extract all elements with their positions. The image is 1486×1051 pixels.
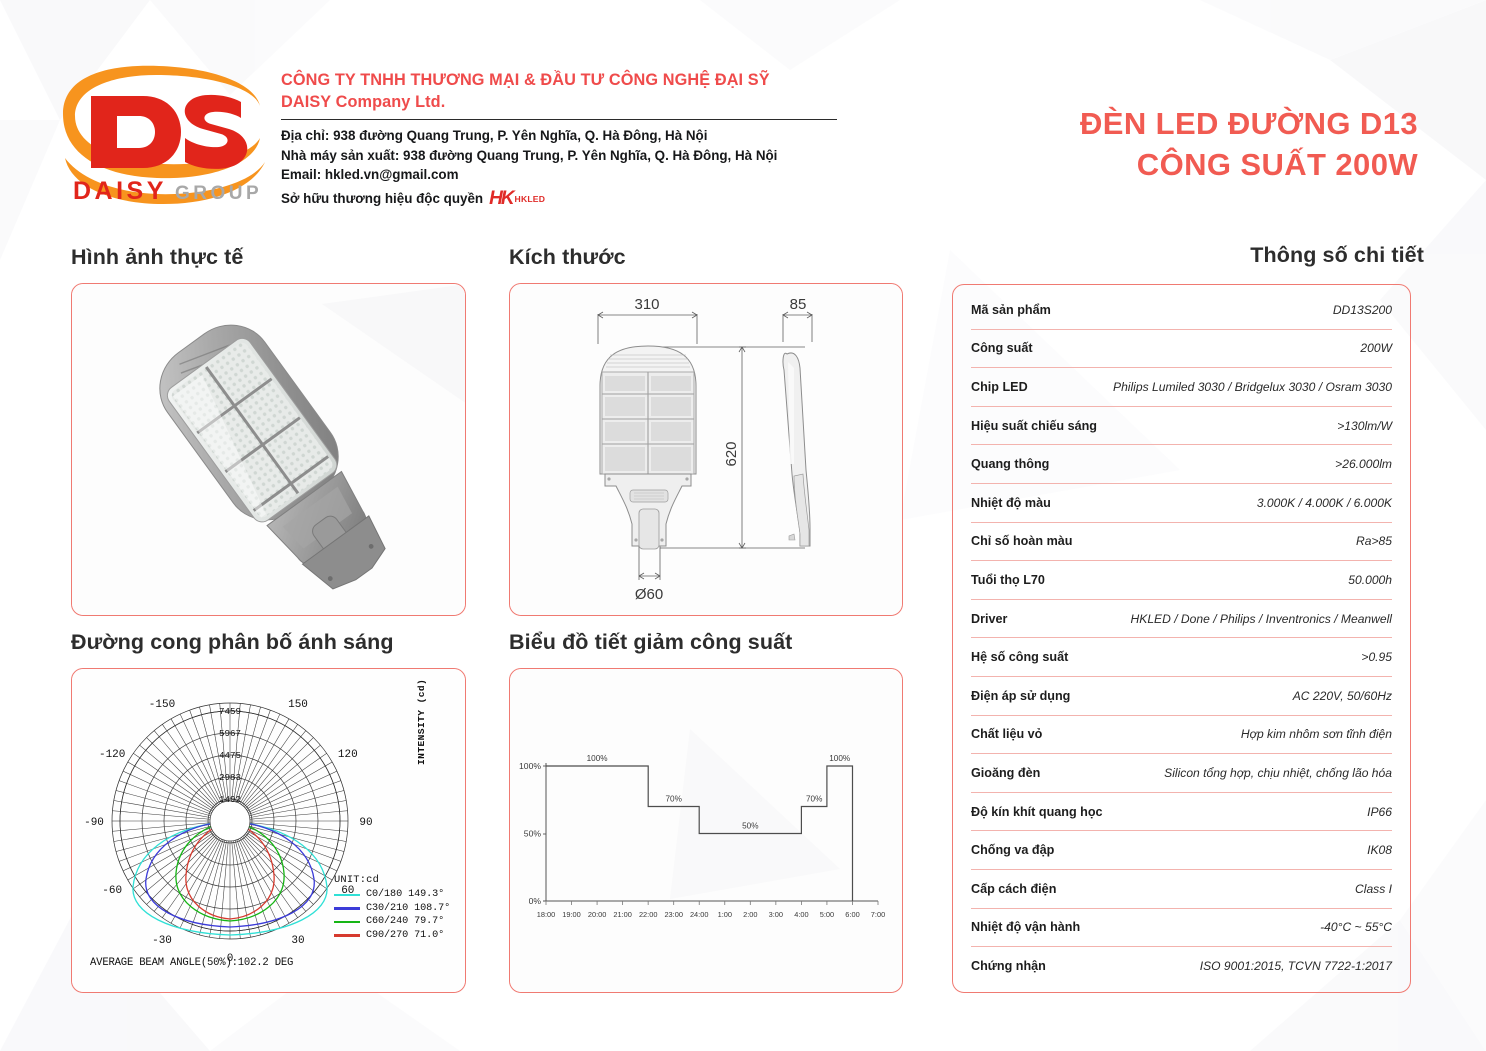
product-title-line2: CÔNG SUẤT 200W (938, 145, 1418, 186)
spec-row: Mã sản phẩmDD13S200 (971, 291, 1392, 330)
polar-legend-unit: UNIT:cd (334, 874, 450, 886)
dimension-height-label: 620 (723, 441, 740, 466)
dimension-drawing: 310 85 620 Ø60 (510, 284, 902, 615)
dimming-x-tick: 7:00 (871, 910, 885, 919)
product-title: ĐÈN LED ĐƯỜNG D13 CÔNG SUẤT 200W (938, 104, 1418, 186)
spec-row: Tuổi thọ L7050.000h (971, 561, 1392, 600)
spec-label: Công suất (971, 341, 1033, 355)
spec-label: Mã sản phẩm (971, 303, 1051, 317)
intensity-axis-label: INTENSITY (cd) (416, 679, 427, 765)
company-address: Địa chỉ: 938 đường Quang Trung, P. Yên N… (281, 126, 846, 146)
dimming-y-tick: 50% (524, 829, 542, 839)
daisy-logo: DAISY GROUP (55, 62, 270, 207)
spec-value: -40°C ~ 55°C (1320, 920, 1392, 934)
spec-value: 3.000K / 4.000K / 6.000K (1257, 496, 1392, 510)
legend-swatch-c0 (334, 894, 360, 896)
product-photo-inner (72, 284, 465, 615)
company-factory: Nhà máy sản xuất: 938 đường Quang Trung,… (281, 146, 846, 166)
dimming-step-label: 50% (742, 822, 758, 831)
polar-radial-tick: 1492 (219, 794, 241, 805)
polar-angle-tick: -120 (99, 749, 125, 761)
dimming-y-tick: 100% (519, 761, 541, 771)
header-divider (281, 119, 837, 120)
legend-label-c90: C90/270 71.0° (366, 930, 444, 941)
dimming-step-label: 100% (829, 754, 850, 763)
dimming-x-tick: 21:00 (613, 910, 632, 919)
logo-daisy-text: DAISY (73, 177, 167, 205)
spec-label: Chỉ số hoàn màu (971, 534, 1072, 548)
hkled-mark-glyph: HK (489, 185, 512, 213)
hkled-mark-text: HKLED (515, 193, 546, 206)
dimming-x-tick: 24:00 (690, 910, 709, 919)
section-title-dimensions: Kích thước (509, 245, 626, 270)
legend-item: C90/270 71.0° (334, 929, 450, 943)
spec-value: AC 220V, 50/60Hz (1293, 689, 1392, 703)
spec-value: Class I (1355, 882, 1392, 896)
legend-label-c0: C0/180 149.3° (366, 889, 444, 900)
dimming-x-tick: 4:00 (794, 910, 808, 919)
dimming-x-tick: 1:00 (718, 910, 732, 919)
polar-distribution-chart: 14922983447559677459 -150-120-90-60-3003… (72, 669, 465, 992)
spec-row: Nhiệt độ màu3.000K / 4.000K / 6.000K (971, 484, 1392, 523)
section-title-photo: Hình ảnh thực tế (71, 245, 243, 270)
spec-value: 50.000h (1348, 573, 1392, 587)
spec-row: Chống va đậpIK08 (971, 831, 1392, 870)
company-name-vi: CÔNG TY TNHH THƯƠNG MẠI & ĐẦU TƯ CÔNG NG… (281, 70, 846, 92)
dimming-x-tick: 20:00 (588, 910, 607, 919)
spec-value: IP66 (1367, 805, 1392, 819)
dimming-chart-panel: 100%50%0% 18:0019:0020:0021:0022:0023:00… (509, 668, 903, 993)
company-email: Email: hkled.vn@gmail.com (281, 165, 846, 185)
spec-row: Nhiệt độ vận hành-40°C ~ 55°C (971, 909, 1392, 948)
dimming-y-tick: 0% (529, 896, 542, 906)
section-title-specs: Thông số chi tiết (1250, 243, 1424, 268)
spec-value: Hợp kim nhôm sơn tĩnh điện (1241, 727, 1392, 741)
legend-item: C60/240 79.7° (334, 915, 450, 929)
exclusive-brand-line: Sở hữu thương hiệu độc quyền HK HKLED (281, 185, 846, 213)
section-title-dimming: Biểu đồ tiết giảm công suất (509, 630, 792, 655)
dimension-mount-label: Ø60 (635, 586, 663, 603)
polar-angle-tick: 30 (291, 935, 304, 947)
spec-value: >26.000lm (1335, 457, 1392, 471)
polar-legend: UNIT:cd C0/180 149.3° C30/210 108.7° C60… (334, 874, 450, 942)
polar-radial-tick: 5967 (219, 728, 241, 739)
polar-angle-tick: 120 (338, 749, 358, 761)
spec-label: Nhiệt độ màu (971, 496, 1051, 510)
section-title-light-curve: Đường cong phân bố ánh sáng (71, 630, 394, 655)
specifications-panel: Mã sản phẩmDD13S200Công suất200WChip LED… (952, 284, 1411, 993)
datasheet-page: DAISY GROUP CÔNG TY TNHH THƯƠNG MẠI & ĐẦ… (0, 0, 1486, 1051)
dimension-depth-label: 85 (790, 296, 807, 313)
company-info: CÔNG TY TNHH THƯƠNG MẠI & ĐẦU TƯ CÔNG NG… (281, 70, 846, 213)
dimming-x-tick: 18:00 (537, 910, 556, 919)
spec-row: Chất liệu vỏHợp kim nhôm sơn tĩnh điện (971, 716, 1392, 755)
specifications-table: Mã sản phẩmDD13S200Công suất200WChip LED… (971, 291, 1392, 986)
hkled-logo: HK HKLED (489, 185, 545, 213)
spec-row: Độ kín khít quang họcIP66 (971, 793, 1392, 832)
spec-value: 200W (1360, 341, 1392, 355)
dimming-x-tick: 6:00 (845, 910, 859, 919)
dimming-schedule-chart: 100%50%0% 18:0019:0020:0021:0022:0023:00… (510, 669, 902, 992)
spec-value: >130lm/W (1337, 419, 1392, 433)
legend-swatch-c30 (334, 907, 360, 909)
spec-row: Chỉ số hoàn màuRa>85 (971, 523, 1392, 562)
dimming-step-label: 70% (806, 795, 822, 804)
spec-label: Quang thông (971, 457, 1049, 471)
spec-label: Hiệu suất chiếu sáng (971, 419, 1097, 433)
spec-value: HKLED / Done / Philips / Inventronics / … (1131, 612, 1392, 626)
spec-row: Quang thông>26.000lm (971, 445, 1392, 484)
spec-value: Silicon tổng hợp, chịu nhiệt, chống lão … (1164, 766, 1392, 780)
dimension-drawing-inner: 310 85 620 Ø60 (510, 284, 902, 615)
exclusive-brand-label: Sở hữu thương hiệu độc quyền (281, 189, 483, 209)
spec-row: Công suất200W (971, 330, 1392, 369)
spec-row: Hiệu suất chiếu sáng>130lm/W (971, 407, 1392, 446)
spec-label: Driver (971, 612, 1007, 626)
spec-row: DriverHKLED / Done / Philips / Inventron… (971, 600, 1392, 639)
spec-label: Chất liệu vỏ (971, 727, 1042, 741)
spec-value: IK08 (1367, 843, 1392, 857)
spec-label: Gioăng đèn (971, 766, 1040, 780)
dimming-x-tick: 3:00 (769, 910, 783, 919)
spec-value: Ra>85 (1356, 534, 1392, 548)
company-name-en: DAISY Company Ltd. (281, 92, 846, 114)
spec-row: Cấp cách điệnClass I (971, 870, 1392, 909)
dimension-drawing-panel: 310 85 620 Ø60 (509, 283, 903, 616)
legend-label-c60: C60/240 79.7° (366, 916, 444, 927)
spec-value: Philips Lumiled 3030 / Bridgelux 3030 / … (1113, 380, 1392, 394)
spec-row: Gioăng đènSilicon tổng hợp, chịu nhiệt, … (971, 754, 1392, 793)
spec-label: Chip LED (971, 380, 1028, 394)
polar-angle-tick: -150 (149, 699, 175, 711)
polar-angle-tick: -30 (152, 935, 172, 947)
dimming-x-tick: 22:00 (639, 910, 658, 919)
spec-label: Cấp cách điện (971, 882, 1056, 896)
dimming-x-tick: 19:00 (562, 910, 581, 919)
dimming-x-tick: 2:00 (743, 910, 757, 919)
light-distribution-inner: 14922983447559677459 -150-120-90-60-3003… (72, 669, 465, 992)
product-photo-image (72, 284, 465, 615)
legend-swatch-c90 (334, 934, 360, 936)
logo-group-text: GROUP (175, 183, 262, 204)
polar-angle-tick: 90 (359, 817, 372, 829)
polar-radial-tick: 2983 (219, 772, 241, 783)
spec-label: Hệ số công suất (971, 650, 1068, 664)
spec-label: Nhiệt độ vận hành (971, 920, 1080, 934)
spec-row: Điện áp sử dụngAC 220V, 50/60Hz (971, 677, 1392, 716)
product-title-line1: ĐÈN LED ĐƯỜNG D13 (938, 104, 1418, 145)
polar-angle-tick: -90 (84, 817, 104, 829)
legend-item: C30/210 108.7° (334, 902, 450, 916)
polar-radial-tick: 4475 (219, 750, 241, 761)
spec-label: Chứng nhận (971, 959, 1046, 973)
spec-value: ISO 9001:2015, TCVN 7722-1:2017 (1200, 959, 1392, 973)
spec-label: Tuổi thọ L70 (971, 573, 1045, 587)
legend-swatch-c60 (334, 921, 360, 923)
light-distribution-panel: 14922983447559677459 -150-120-90-60-3003… (71, 668, 466, 993)
legend-label-c30: C30/210 108.7° (366, 903, 450, 914)
polar-angle-tick: -60 (102, 885, 122, 897)
polar-angle-tick: 150 (288, 699, 308, 711)
dimming-step-label: 70% (666, 795, 682, 804)
spec-label: Chống va đập (971, 843, 1054, 857)
spec-label: Độ kín khít quang học (971, 805, 1103, 819)
dimming-x-tick: 23:00 (664, 910, 683, 919)
average-beam-angle-caption: AVERAGE BEAM ANGLE(50%):102.2 DEG (90, 957, 293, 969)
dimming-chart-inner: 100%50%0% 18:0019:0020:0021:0022:0023:00… (510, 669, 902, 992)
daisy-logo-icon: DAISY GROUP (55, 62, 270, 207)
dimension-width-label: 310 (634, 296, 659, 313)
spec-value: >0.95 (1361, 650, 1392, 664)
spec-row: Chứng nhậnISO 9001:2015, TCVN 7722-1:201… (971, 947, 1392, 986)
spec-label: Điện áp sử dụng (971, 689, 1070, 703)
page-header: DAISY GROUP CÔNG TY TNHH THƯƠNG MẠI & ĐẦ… (0, 0, 1486, 225)
polar-radial-tick: 7459 (219, 706, 241, 717)
legend-item: C0/180 149.3° (334, 888, 450, 902)
product-photo-panel (71, 283, 466, 616)
spec-value: DD13S200 (1333, 303, 1392, 317)
spec-row: Chip LEDPhilips Lumiled 3030 / Bridgelux… (971, 368, 1392, 407)
spec-row: Hệ số công suất>0.95 (971, 638, 1392, 677)
dimming-step-label: 100% (587, 754, 608, 763)
dimming-x-tick: 5:00 (820, 910, 834, 919)
